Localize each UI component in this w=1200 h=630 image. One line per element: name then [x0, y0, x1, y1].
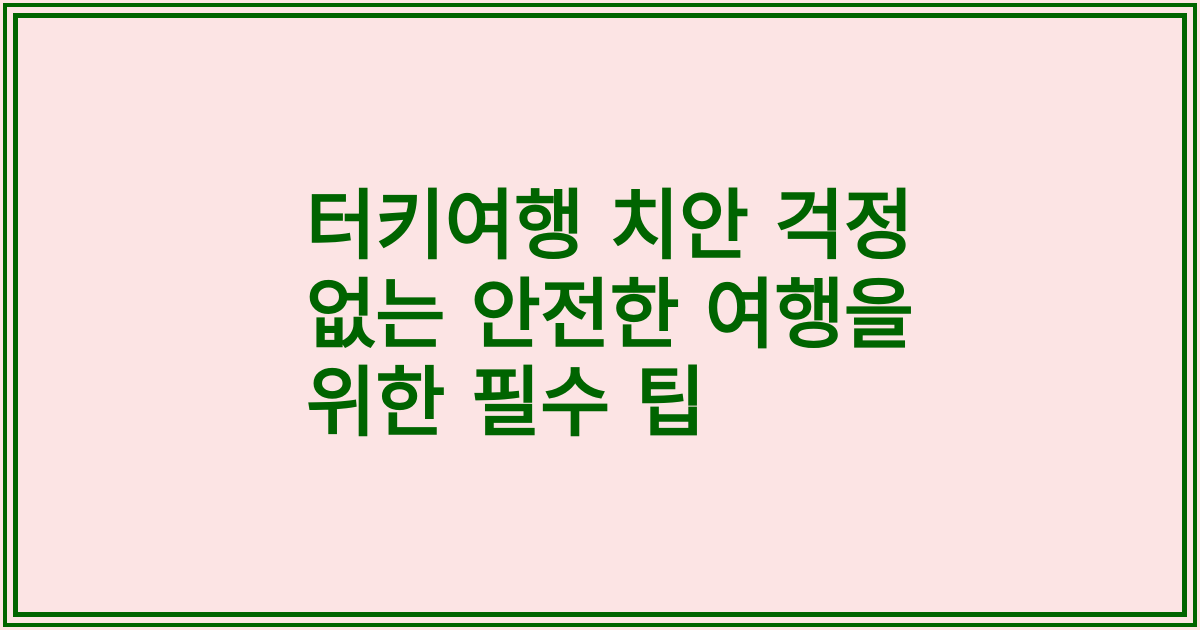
title-line-2: 없는 안전한 여행을: [306, 271, 894, 360]
og-image-card: 터키여행 치안 걱정 없는 안전한 여행을 위한 필수 팁: [0, 0, 1200, 630]
page-title: 터키여행 치안 걱정 없는 안전한 여행을 위한 필수 팁: [306, 182, 894, 449]
title-line-3: 위한 필수 팁: [306, 359, 894, 448]
title-container: 터키여행 치안 걱정 없는 안전한 여행을 위한 필수 팁: [0, 0, 1200, 630]
title-line-1: 터키여행 치안 걱정: [306, 182, 894, 271]
